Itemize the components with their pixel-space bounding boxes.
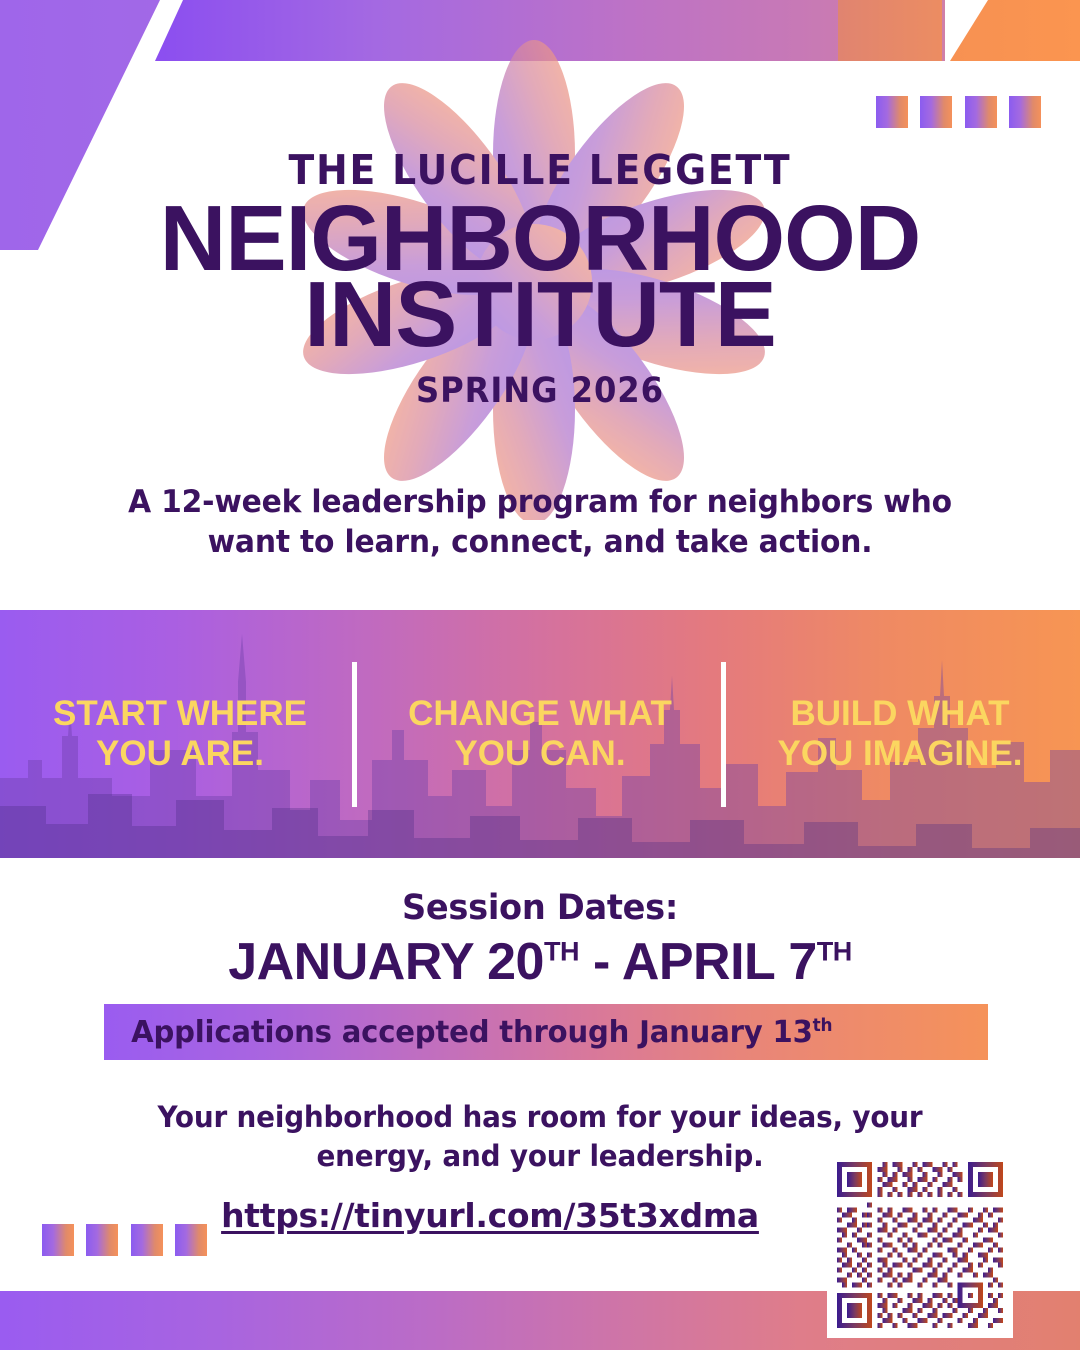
headline-block: THE LUCILLE LEGGETT NEIGHBORHOOD INSTITU… [0, 150, 1080, 411]
kicker-text: THE LUCILLE LEGGETT [43, 150, 1037, 191]
decor-square-bl-1 [42, 1224, 74, 1256]
date-range-start-ordinal: TH [544, 937, 579, 967]
qr-code[interactable] [827, 1152, 1013, 1338]
session-dates-label: Session Dates: [22, 888, 1059, 928]
applications-deadline-ordinal: th [813, 1016, 833, 1036]
skyline-column-3: BUILD WHAT YOU IMAGINE. [720, 610, 1080, 858]
skyline-divider-1 [352, 662, 357, 807]
applications-deadline-bar: Applications accepted through January 13… [104, 1004, 988, 1060]
qr-code-icon[interactable] [827, 1152, 1013, 1338]
decor-square-tr-3 [965, 96, 997, 128]
skyline-tagline-2: CHANGE WHAT YOU CAN. [408, 694, 672, 774]
skyline-tagline-3: BUILD WHAT YOU IMAGINE. [777, 694, 1022, 774]
session-dates-range: JANUARY 20TH - APRIL 7TH [0, 932, 1080, 992]
decor-square-tr-1 [876, 96, 908, 128]
top-center-accent-band [155, 0, 945, 61]
decor-square-tr-2 [920, 96, 952, 128]
date-range-start: JANUARY 20 [228, 933, 544, 991]
decor-square-tr-4 [1009, 96, 1041, 128]
date-range-end-ordinal: TH [817, 937, 852, 967]
skyline-column-2: CHANGE WHAT YOU CAN. [360, 610, 720, 858]
skyline-banner: START WHERE YOU ARE. CHANGE WHAT YOU CAN… [0, 610, 1080, 858]
skyline-column-1: START WHERE YOU ARE. [0, 610, 360, 858]
date-range-separator: - APRIL 7 [579, 933, 817, 991]
application-url-link[interactable]: https://tinyurl.com/35t3xdma [95, 1196, 885, 1235]
applications-deadline-text: Applications accepted through January 13… [104, 1015, 832, 1050]
skyline-divider-2 [721, 662, 726, 807]
program-tagline: A 12-week leadership program for neighbo… [108, 482, 972, 563]
skyline-tagline-columns: START WHERE YOU ARE. CHANGE WHAT YOU CAN… [0, 610, 1080, 858]
title-line-1: NEIGHBORHOOD [5, 201, 1074, 275]
flyer-root: THE LUCILLE LEGGETT NEIGHBORHOOD INSTITU… [0, 0, 1080, 1350]
season-text: SPRING 2026 [43, 371, 1037, 411]
top-right-accent-band-2 [950, 0, 1080, 61]
applications-deadline-message: Applications accepted through January 13 [131, 1015, 812, 1050]
skyline-tagline-1: START WHERE YOU ARE. [53, 694, 307, 774]
